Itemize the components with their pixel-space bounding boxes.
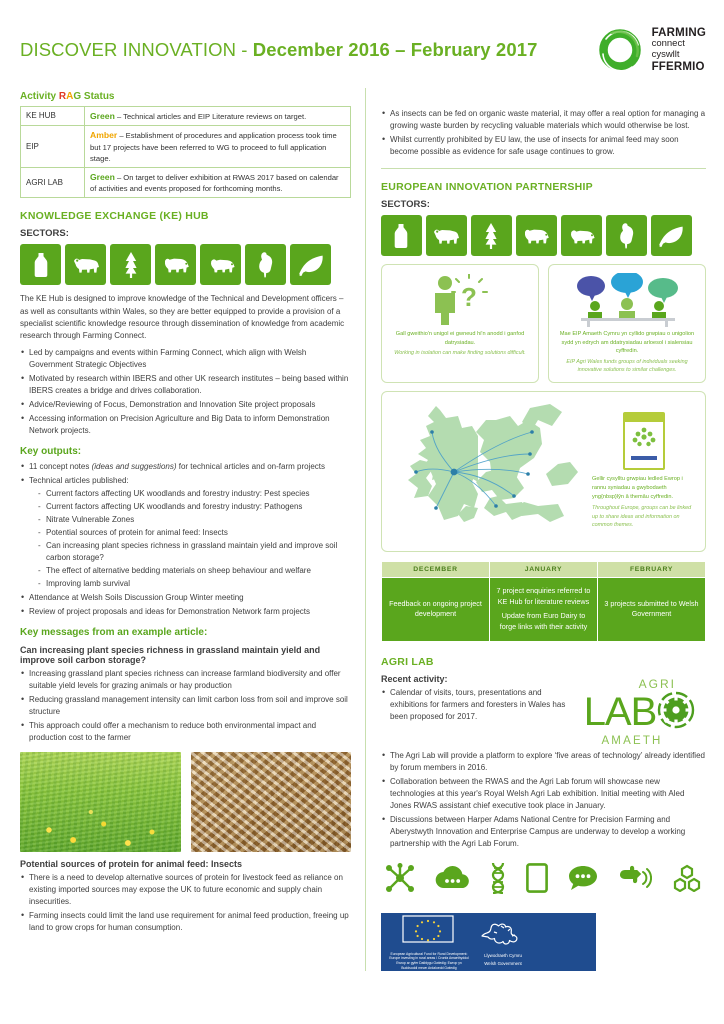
list-item: Motivated by research within IBERS and o…	[20, 373, 351, 397]
timeline-header-row: DECEMBER JANUARY FEBRUARY	[381, 561, 705, 577]
cow-icon	[65, 244, 106, 285]
timeline-entry: 3 projects submitted to Welsh Government	[604, 599, 699, 621]
status-badge: Amber	[90, 130, 117, 140]
agri-lab-logo-bottom: AMAETH	[574, 736, 706, 748]
section-heading-agri-lab: AGRI LAB	[381, 656, 706, 668]
right-top-bullets: As insects can be fed on organic waste m…	[381, 108, 706, 158]
sheep-icon	[561, 215, 602, 256]
rag-status-table: KE HUB Green – Technical articles and EI…	[20, 106, 351, 198]
rag-row-key: EIP	[21, 126, 85, 167]
article-photos	[20, 752, 351, 852]
timeline-cell-january: 7 project enquiries referred to KE Hub f…	[489, 577, 597, 641]
table-row: KE HUB Green – Technical articles and EI…	[21, 107, 351, 126]
agri-lab-technology-icons	[385, 862, 702, 899]
list-item: Calendar of visits, tours, presentations…	[381, 687, 568, 723]
output-text: 11 concept notes	[29, 462, 92, 471]
eip-concept-boxes: ? Gall gweithio'n unigol ei gwneud hi'n …	[381, 264, 706, 383]
list-item: There is a need to develop alternative s…	[20, 872, 351, 908]
list-item: This approach could offer a mechanism to…	[20, 720, 351, 744]
farming-connect-swirl-logo	[595, 25, 645, 75]
dna-helix-icon	[489, 862, 507, 899]
publication-leaflet-icon	[623, 412, 665, 470]
page-title-plain: DISCOVER INNOVATION -	[20, 39, 253, 60]
article-1-bullets: Increasing grassland plant species richn…	[20, 668, 351, 744]
milk-bottle-icon	[381, 215, 422, 256]
page-header: DISCOVER INNOVATION - December 2016 – Fe…	[20, 14, 706, 86]
svg-text:?: ?	[461, 282, 477, 312]
list-item: 11 concept notes (ideas and suggestions)…	[20, 461, 351, 473]
table-row: EIP Amber – Establishment of procedures …	[21, 126, 351, 167]
list-item: Whilst currently prohibited by EU law, t…	[381, 134, 706, 158]
agri-lab-bullets-rest: The Agri Lab will provide a platform to …	[381, 750, 706, 850]
map-caption-en: Throughout Europe, groups can be linked …	[592, 504, 696, 530]
list-item: Can increasing plant species richness in…	[38, 540, 351, 564]
article-1-title: Can increasing plant species richness in…	[20, 645, 351, 665]
agri-lab-intro-col: Recent activity: Calendar of visits, tou…	[381, 674, 568, 748]
list-item: Technical articles published: Current fa…	[20, 475, 351, 590]
agri-lab-logo-main: LAB	[584, 694, 657, 731]
agri-lab-logo-top: AGRI	[574, 678, 706, 690]
timeline-month-january: JANUARY	[489, 561, 597, 577]
rag-row-value: Amber – Establishment of procedures and …	[85, 126, 351, 167]
article-2-bullets: There is a need to develop alternative s…	[20, 872, 351, 934]
eip-box-1-caption-cy: Gall gweithio'n unigol ei gwneud hi'n an…	[390, 330, 530, 347]
list-item: Accessing information on Precision Agric…	[20, 413, 351, 437]
status-badge: Green	[90, 111, 115, 121]
rag-status-title: Activity RAG Status	[20, 91, 351, 102]
person-question-mark-icon: ?	[388, 273, 532, 327]
agri-lab-top: Recent activity: Calendar of visits, tou…	[381, 674, 706, 748]
rag-row-text: – Establishment of procedures and applic…	[90, 131, 337, 162]
list-item: Led by campaigns and events within Farmi…	[20, 347, 351, 371]
logo-line-ffermio: FFERMIO	[652, 61, 706, 74]
insect-larvae-photo	[191, 752, 352, 852]
chicken-icon	[245, 244, 286, 285]
eip-box-isolation: ? Gall gweithio'n unigol ei gwneud hi'n …	[381, 264, 539, 383]
cow-icon	[426, 215, 467, 256]
right-column: As insects can be fed on organic waste m…	[366, 86, 706, 971]
timeline-cell-december: Feedback on ongoing project development	[381, 577, 489, 641]
ke-hub-bullets: Led by campaigns and events within Farmi…	[20, 347, 351, 437]
article-2-title: Potential sources of protein for animal …	[20, 859, 351, 869]
farming-connect-logo: FARMING connect cyswllt FFERMIO	[595, 25, 706, 75]
page-root: DISCOVER INNOVATION - December 2016 – Fe…	[0, 0, 724, 1024]
agri-lab-logo-main-row: LAB	[574, 690, 706, 735]
cloud-icon	[435, 866, 469, 895]
list-item: As insects can be fed on organic waste m…	[381, 108, 706, 132]
status-badge: Green	[90, 172, 115, 182]
map-caption-cy: Gellir cysylltu grwpiau ledled Ewrop i r…	[592, 475, 696, 502]
timeline-cell-february: 3 projects submitted to Welsh Government	[597, 577, 705, 641]
pig-icon	[155, 244, 196, 285]
sector-icon-row-eip	[381, 215, 706, 256]
list-item: Reducing grassland management intensity …	[20, 694, 351, 718]
divider-rule	[381, 168, 706, 169]
key-outputs-heading: Key outputs:	[20, 446, 351, 457]
funding-logos-footer: European Agricultural Fund for Rural Dev…	[381, 913, 596, 971]
eip-box-2-caption-cy: Mae EIP Amaeth Cymru yn cyllido grwpiau …	[557, 330, 697, 356]
agri-lab-bullets-top: Calendar of visits, tours, presentations…	[381, 687, 568, 723]
list-item: Improving lamb survival	[38, 578, 351, 590]
page-title: DISCOVER INNOVATION - December 2016 – Fe…	[20, 39, 538, 61]
rag-row-value: Green – Technical articles and EIP Liter…	[85, 107, 351, 126]
logo-wordmark: FARMING connect cyswllt FFERMIO	[652, 27, 706, 74]
sectors-label-right: SECTORS:	[381, 199, 706, 210]
rag-row-value: Green – On target to deliver exhibition …	[85, 167, 351, 197]
rag-row-text: – Technical articles and EIP Literature …	[115, 112, 306, 121]
eip-map-box: Gellir cysylltu grwpiau ledled Ewrop i r…	[381, 391, 706, 552]
sheep-icon	[200, 244, 241, 285]
welsh-government-caption-en: Welsh Government	[477, 961, 529, 967]
key-outputs-list: 11 concept notes (ideas and suggestions)…	[20, 461, 351, 618]
agri-lab-recent-label: Recent activity:	[381, 674, 568, 684]
output-text: Technical articles published:	[29, 476, 129, 485]
list-item: Advice/Reviewing of Focus, Demonstration…	[20, 399, 351, 411]
eip-box-2-caption-en: EIP Agri Wales funds groups of individua…	[557, 358, 697, 375]
welsh-government-dragon-icon	[477, 933, 529, 950]
rag-letter-green: G	[73, 91, 81, 102]
ke-hub-intro: The KE Hub is designed to improve knowle…	[20, 293, 351, 342]
left-column: Activity RAG Status KE HUB Green – Techn…	[20, 86, 365, 971]
rag-row-key: AGRI LAB	[21, 167, 85, 197]
list-item: Review of project proposals and ideas fo…	[20, 606, 351, 618]
content-columns: Activity RAG Status KE HUB Green – Techn…	[20, 86, 706, 971]
speech-bubble-icon	[568, 865, 598, 896]
key-messages-heading: Key messages from an example article:	[20, 627, 351, 638]
sector-icon-row-ke-hub	[20, 244, 351, 285]
plant-leaf-icon	[651, 215, 692, 256]
list-item: Increasing grassland plant species richn…	[20, 668, 351, 692]
technical-articles-sublist: Current factors affecting UK woodlands a…	[38, 488, 351, 590]
output-italic: (ideas and suggestions)	[92, 462, 177, 471]
chicken-icon	[606, 215, 647, 256]
welsh-government-caption-cy: Llywodraeth Cymru	[477, 953, 529, 959]
timeline-month-february: FEBRUARY	[597, 561, 705, 577]
molecule-hexagons-icon	[672, 864, 702, 897]
group-discussion-icon	[555, 273, 699, 327]
list-item: Collaboration between the RWAS and the A…	[381, 776, 706, 812]
welsh-government-logo: Llywodraeth Cymru Welsh Government	[477, 918, 529, 967]
list-item: Farming insects could limit the land use…	[20, 910, 351, 934]
page-title-period: December 2016 – February 2017	[253, 39, 538, 60]
network-nodes-icon	[385, 863, 415, 898]
timeline-entry: 7 project enquiries referred to KE Hub f…	[496, 586, 591, 608]
timeline-entry: Feedback on ongoing project development	[388, 599, 483, 621]
tablet-device-icon	[526, 863, 548, 898]
output-text-post: for technical articles and on-farm proje…	[177, 462, 326, 471]
agri-lab-logo: AGRI LAB	[574, 674, 706, 748]
section-heading-ke-hub: KNOWLEDGE EXCHANGE (KE) HUB	[20, 210, 351, 222]
list-item: Attendance at Welsh Soils Discussion Gro…	[20, 592, 351, 604]
logo-line-cyswllt: cyswllt	[652, 50, 706, 61]
european-union-flag-icon: European Agricultural Fund for Rural Dev…	[389, 915, 469, 970]
list-item: Current factors affecting UK woodlands a…	[38, 488, 351, 500]
timeline-entry: Update from Euro Dairy to forge links wi…	[496, 611, 591, 633]
tree-icon	[110, 244, 151, 285]
europe-map-with-network-links	[390, 398, 586, 545]
eip-box-1-caption-en: Working in isolation can make finding so…	[390, 349, 530, 357]
rag-row-text: – On target to deliver exhibition at RWA…	[90, 173, 339, 193]
rag-row-key: KE HUB	[21, 107, 85, 126]
grassland-photo	[20, 752, 181, 852]
plant-leaf-icon	[290, 244, 331, 285]
list-item: Current factors affecting UK woodlands a…	[38, 501, 351, 513]
eip-box-collaboration: Mae EIP Amaeth Cymru yn cyllido grwpiau …	[548, 264, 706, 383]
map-side-panel: Gellir cysylltu grwpiau ledled Ewrop i r…	[592, 412, 696, 530]
agri-lab-gear-icon	[656, 690, 696, 735]
list-item: Potential sources of protein for animal …	[38, 527, 351, 539]
timeline-month-december: DECEMBER	[381, 561, 489, 577]
eu-fund-caption: European Agricultural Fund for Rural Dev…	[389, 952, 469, 970]
list-item: Nitrate Vulnerable Zones	[38, 514, 351, 526]
sectors-label-left: SECTORS:	[20, 228, 351, 239]
table-row: AGRI LAB Green – On target to deliver ex…	[21, 167, 351, 197]
pig-icon	[516, 215, 557, 256]
milk-bottle-icon	[20, 244, 61, 285]
eip-timeline-table: DECEMBER JANUARY FEBRUARY Feedback on on…	[381, 561, 706, 642]
list-item: Discussions between Harper Adams Nationa…	[381, 814, 706, 850]
list-item: The effect of alternative bedding materi…	[38, 565, 351, 577]
section-heading-eip: EUROPEAN INNOVATION PARTNERSHIP	[381, 181, 706, 193]
list-item: The Agri Lab will provide a platform to …	[381, 750, 706, 774]
tree-icon	[471, 215, 512, 256]
timeline-body-row: Feedback on ongoing project development …	[381, 577, 705, 641]
pointing-hand-signal-icon	[618, 865, 652, 896]
